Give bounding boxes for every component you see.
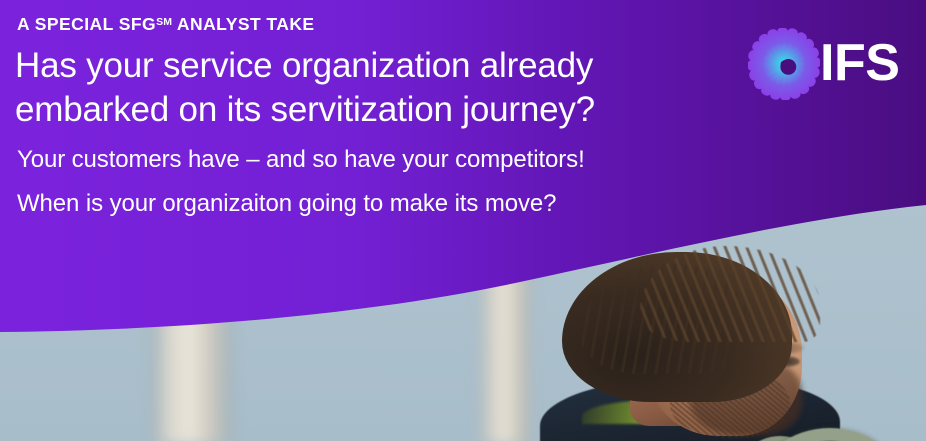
header-content: A SPECIAL SFGSM ANALYST TAKE Has your se… bbox=[0, 0, 926, 240]
ifs-promo-banner: A SPECIAL SFGSM ANALYST TAKE Has your se… bbox=[0, 0, 926, 441]
page-title: Has your service organization already em… bbox=[15, 44, 715, 132]
subheading-line-2: When is your organizaiton going to make … bbox=[17, 190, 556, 218]
subheading-line-1: Your customers have – and so have your c… bbox=[17, 146, 585, 174]
eyebrow-label: A SPECIAL SFGSM ANALYST TAKE bbox=[17, 14, 315, 35]
eyebrow-prefix: A SPECIAL SFG bbox=[17, 14, 156, 34]
ifs-logo[interactable]: IFS bbox=[748, 28, 918, 100]
eyebrow-superscript-sm: SM bbox=[156, 16, 172, 28]
eyebrow-suffix: ANALYST TAKE bbox=[172, 14, 314, 34]
ifs-spiral-mark-icon bbox=[748, 28, 820, 100]
ifs-wordmark: IFS bbox=[820, 27, 899, 99]
blurred-mast-left-cap bbox=[152, 250, 230, 286]
headline-line-2: embarked on its servitization journey? bbox=[15, 88, 715, 132]
headline-line-1: Has your service organization already bbox=[15, 44, 715, 88]
person-photo-subject bbox=[520, 260, 926, 441]
ifs-mark-center bbox=[780, 59, 796, 75]
